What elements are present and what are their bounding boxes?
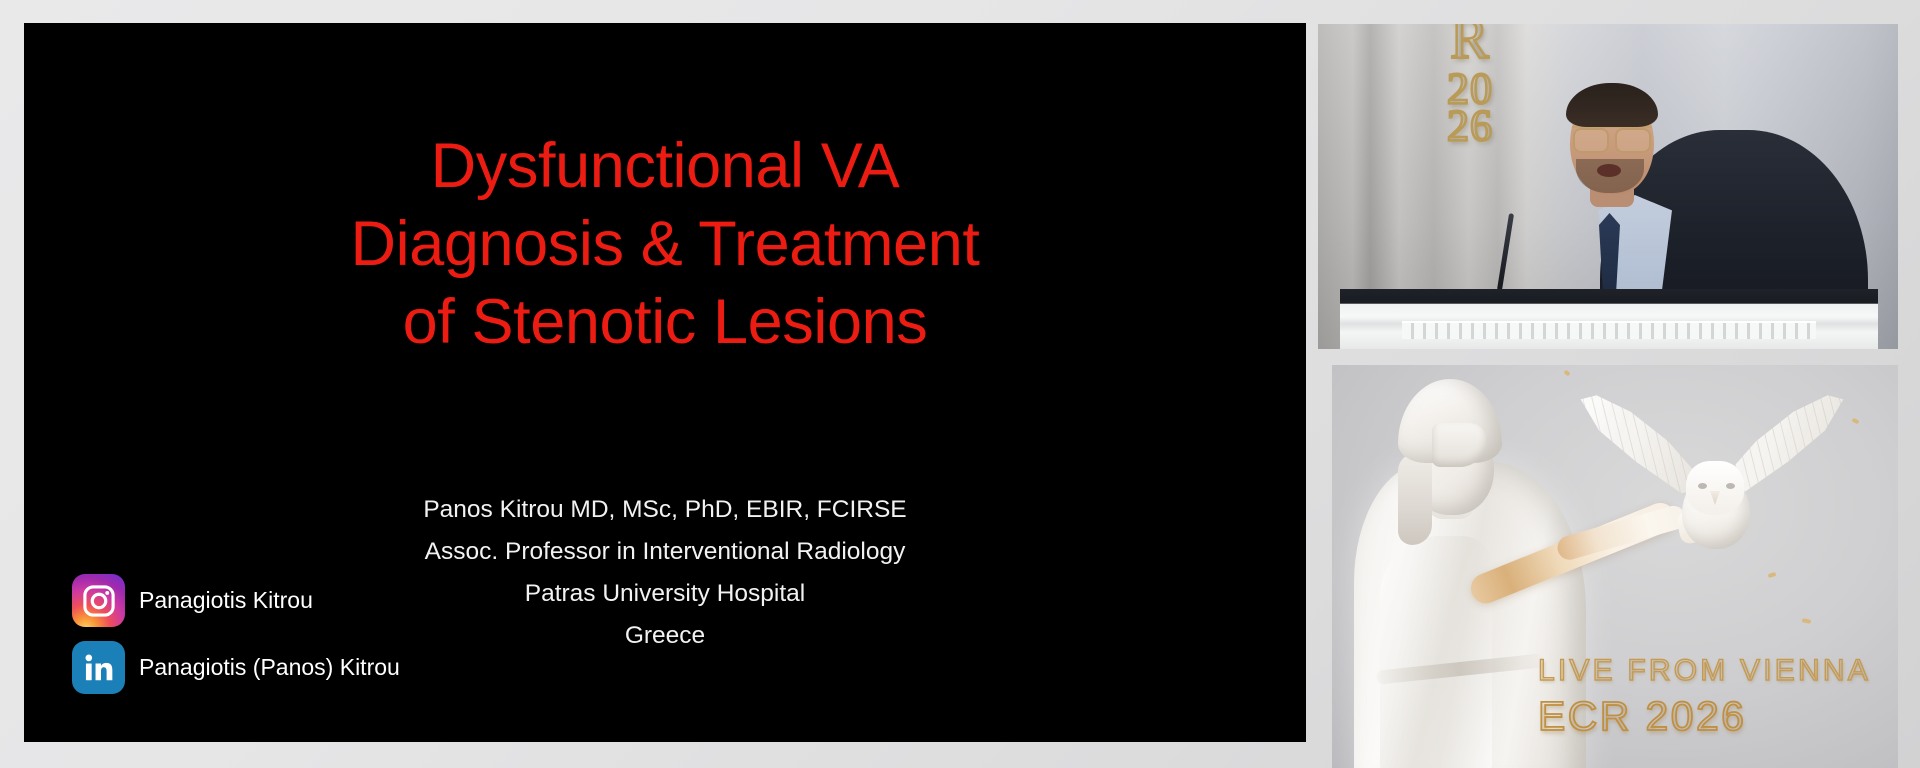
linkedin-glyph [72, 641, 125, 694]
presenter-name: Panos Kitrou MD, MSc, PhD, EBIR, FCIRSE [24, 489, 1306, 531]
instagram-icon[interactable] [72, 574, 125, 627]
owl-figure [1584, 389, 1852, 579]
athena-statue-hair [1398, 453, 1432, 545]
wall-year-bottom: 26 [1428, 106, 1512, 146]
speaker-mouth [1597, 164, 1621, 177]
webinar-stage: Dysfunctional VA Diagnosis & Treatment o… [0, 0, 1920, 768]
speaker-podium [1340, 289, 1878, 349]
speaker-glasses [1572, 126, 1652, 147]
right-column: R 20 26 [1318, 24, 1898, 768]
gold-speck [1563, 370, 1570, 377]
social-row-instagram[interactable]: Panagiotis Kitrou [72, 574, 400, 627]
social-handles: Panagiotis Kitrou Panagiotis (Panos) Kit… [72, 574, 400, 694]
social-row-linkedin[interactable]: Panagiotis (Panos) Kitrou [72, 641, 400, 694]
presentation-slide[interactable]: Dysfunctional VA Diagnosis & Treatment o… [24, 23, 1306, 742]
gold-speck [1851, 418, 1859, 425]
owl-eye-left [1698, 483, 1707, 489]
speaker-video-feed[interactable]: R 20 26 [1318, 24, 1898, 349]
owl-face [1686, 461, 1744, 515]
event-name: ECR 2026 [1538, 693, 1871, 740]
slide-content: Dysfunctional VA Diagnosis & Treatment o… [24, 23, 1306, 742]
owl-eye-right [1726, 483, 1735, 489]
linkedin-handle: Panagiotis (Panos) Kitrou [139, 654, 400, 681]
slide-title-line-1: Dysfunctional VA [24, 127, 1306, 205]
event-title-block: LIVE FROM VIENNA ECR 2026 [1538, 654, 1871, 740]
event-tagline: LIVE FROM VIENNA [1538, 654, 1871, 688]
slide-title: Dysfunctional VA Diagnosis & Treatment o… [24, 127, 1306, 361]
slide-title-line-3: of Stenotic Lesions [24, 283, 1306, 361]
instagram-glyph [72, 574, 125, 627]
presenter-title: Assoc. Professor in Interventional Radio… [24, 531, 1306, 573]
slide-title-line-2: Diagnosis & Treatment [24, 205, 1306, 283]
event-branding-graphic[interactable]: LIVE FROM VIENNA ECR 2026 [1332, 365, 1898, 768]
instagram-handle: Panagiotis Kitrou [139, 587, 313, 614]
wall-event-lettering: R 20 26 [1428, 24, 1512, 146]
gold-speck [1802, 618, 1812, 624]
linkedin-icon[interactable] [72, 641, 125, 694]
